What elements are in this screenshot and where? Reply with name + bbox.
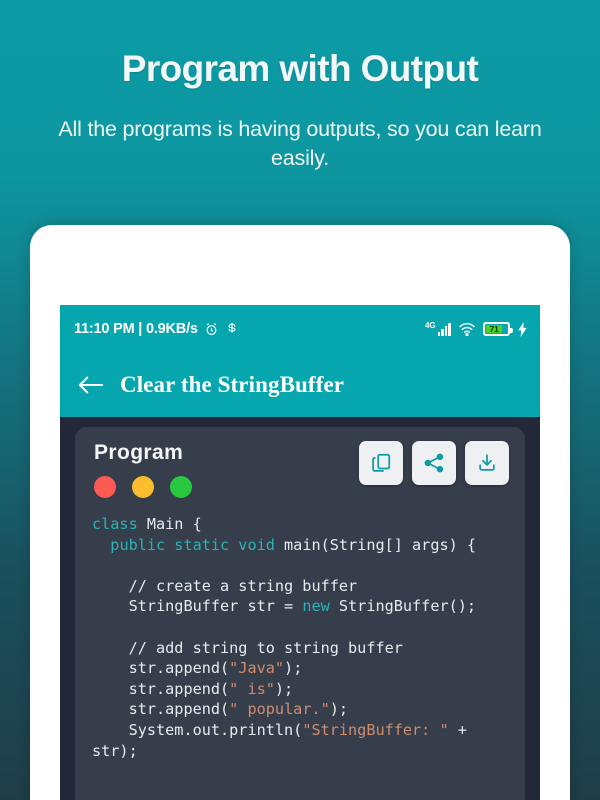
traffic-light-dots: [94, 476, 192, 498]
battery-icon: 71: [483, 322, 510, 336]
dot-green-icon: [170, 476, 192, 498]
code-token-str: "Java": [229, 659, 284, 677]
code-token-kw: new: [302, 597, 339, 615]
battery-percent-label: 71: [486, 325, 502, 333]
lightning-bolt-icon: [517, 322, 528, 337]
download-icon: [476, 452, 498, 474]
program-card-label: Program: [94, 441, 192, 465]
code-token-kw: public static void: [110, 536, 284, 554]
code-token-txt: StringBuffer str =: [92, 597, 302, 615]
share-button[interactable]: [412, 441, 456, 485]
network-type-label: 4G: [425, 322, 436, 330]
code-card-wrapper: Program: [60, 417, 540, 800]
sync-icon: [225, 322, 239, 337]
download-button[interactable]: [465, 441, 509, 485]
card-actions: [359, 441, 509, 485]
phone-screen: 11:10 PM | 0.9KB/s 4G: [60, 305, 540, 800]
alarm-icon: [204, 322, 219, 337]
code-token-cm: // create a string buffer: [129, 577, 358, 595]
promo-subtitle: All the programs is having outputs, so y…: [55, 115, 545, 173]
code-token-str: " popular.": [229, 700, 330, 718]
app-bar-title: Clear the StringBuffer: [120, 372, 344, 398]
program-card-header: Program: [75, 441, 525, 498]
status-bar-left: 11:10 PM | 0.9KB/s: [74, 321, 239, 337]
status-bar-right: 4G 71: [425, 322, 528, 337]
phone-mockup: 11:10 PM | 0.9KB/s 4G: [30, 225, 570, 800]
dot-red-icon: [94, 476, 116, 498]
share-icon: [423, 452, 445, 474]
code-token-str: "StringBuffer: ": [302, 721, 448, 739]
wifi-icon: [458, 322, 476, 336]
copy-icon: [370, 452, 392, 474]
app-bar: Clear the StringBuffer: [60, 353, 540, 417]
code-block[interactable]: class Main { public static void main(Str…: [75, 514, 525, 761]
code-token-txt: str.append(: [92, 659, 229, 677]
status-clock-and-speed: 11:10 PM | 0.9KB/s: [74, 321, 198, 337]
back-arrow-icon[interactable]: [78, 375, 104, 395]
program-card: Program: [75, 427, 525, 800]
dot-yellow-icon: [132, 476, 154, 498]
status-bar: 11:10 PM | 0.9KB/s 4G: [60, 305, 540, 353]
copy-button[interactable]: [359, 441, 403, 485]
promo-header: Program with Output All the programs is …: [0, 0, 600, 172]
code-token-kw: class: [92, 515, 147, 533]
page-title: Program with Output: [0, 50, 600, 89]
code-token-str: " is": [229, 680, 275, 698]
code-token-cm: // add string to string buffer: [129, 639, 403, 657]
signal-icon: 4G: [425, 322, 451, 336]
